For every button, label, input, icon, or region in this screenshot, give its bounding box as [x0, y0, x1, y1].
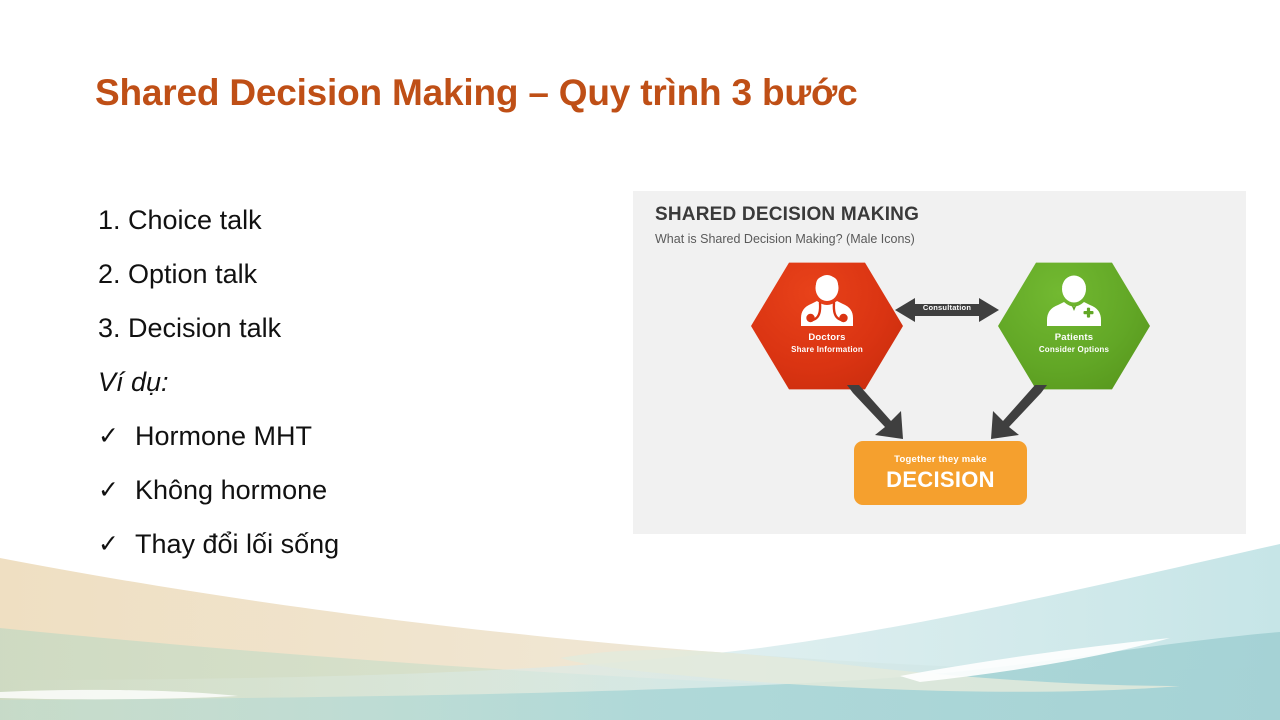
diagram-node-sublabel: Consider Options: [1039, 345, 1109, 354]
doctor-icon: [795, 274, 859, 330]
diagram-node-patients: Patients Consider Options: [998, 260, 1150, 392]
diagram-node-label: Doctors: [808, 332, 845, 343]
check-icon: ✓: [98, 463, 135, 517]
list-item-option-talk: 2. Option talk: [98, 247, 598, 301]
diagram-node-sublabel: Share Information: [791, 345, 863, 354]
decorative-wave-graphic: [0, 540, 1280, 720]
list-item-choice-talk: 1. Choice talk: [98, 193, 598, 247]
decision-main-text: DECISION: [886, 467, 995, 493]
example-heading: Ví dụ:: [98, 355, 598, 409]
list-item-decision-talk: 3. Decision talk: [98, 301, 598, 355]
decision-outcome-box: Together they make DECISION: [854, 441, 1027, 505]
list-item-label: 3. Decision talk: [98, 301, 281, 355]
check-icon: ✓: [98, 409, 135, 463]
diagram-subtitle: What is Shared Decision Making? (Male Ic…: [655, 232, 915, 246]
decision-top-text: Together they make: [894, 454, 987, 465]
example-heading-label: Ví dụ:: [98, 355, 169, 409]
list-item-label: 2. Option talk: [98, 247, 257, 301]
checklist-item-khong-hormone: ✓ Không hormone: [98, 463, 598, 517]
diagram-title: SHARED DECISION MAKING: [655, 204, 919, 226]
list-item-label: 1. Choice talk: [98, 193, 262, 247]
diagram-node-doctors: Doctors Share Information: [751, 260, 903, 392]
converging-arrows-icon: [829, 383, 1065, 445]
body-content-list: 1. Choice talk 2. Option talk 3. Decisio…: [98, 193, 598, 571]
diagram-node-label: Patients: [1055, 332, 1094, 343]
checklist-item-label: Không hormone: [135, 463, 327, 517]
shared-decision-making-diagram: SHARED DECISION MAKING What is Shared De…: [633, 191, 1246, 534]
checklist-item-label: Hormone MHT: [135, 409, 312, 463]
page-title: Shared Decision Making – Quy trình 3 bướ…: [95, 72, 1185, 114]
consultation-double-arrow-icon: [895, 295, 999, 325]
checklist-item-hormone-mht: ✓ Hormone MHT: [98, 409, 598, 463]
patient-icon: [1042, 274, 1106, 330]
